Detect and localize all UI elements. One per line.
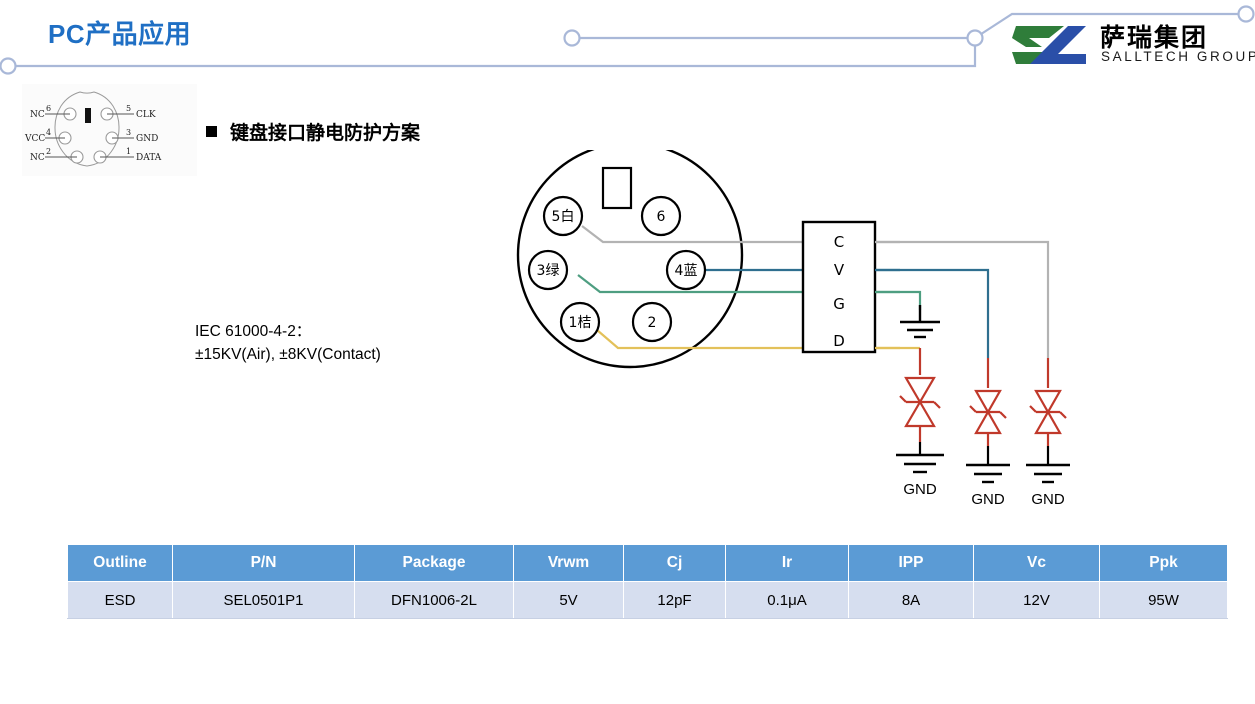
connector-pin-5-label: 5白 xyxy=(552,209,575,225)
ground-label-2: GND xyxy=(971,491,1005,508)
wire-g-to-ground xyxy=(875,292,920,310)
ground-symbol-g xyxy=(900,305,940,337)
table-row: ESD SEL0501P1 DFN1006-2L 5V 12pF 0.1μA 8… xyxy=(68,582,1228,619)
ps2-label-left-2-name: NC xyxy=(30,153,45,163)
cell-vc: 12V xyxy=(974,582,1100,619)
connector-pin-3-label: 3绿 xyxy=(537,263,560,279)
cell-ir: 0.1μA xyxy=(726,582,849,619)
salltech-logo-mark xyxy=(1008,22,1092,68)
connector-pin-1-label: 1桔 xyxy=(569,315,592,331)
col-header-vc: Vc xyxy=(974,545,1100,582)
page-title: PC产品应用 xyxy=(48,14,191,51)
connector-pin-4-label: 4蓝 xyxy=(675,263,698,279)
cell-outline: ESD xyxy=(68,582,173,619)
connector-key-slot xyxy=(603,168,631,208)
company-logo: 萨瑞集团 SALLTECH GROUP xyxy=(1008,18,1248,76)
col-header-package: Package xyxy=(355,545,514,582)
connector-pin-2-label: 2 xyxy=(648,315,657,331)
logo-name-en: SALLTECH GROUP xyxy=(1101,49,1255,64)
col-header-ppk: Ppk xyxy=(1100,545,1228,582)
deco-node-left xyxy=(1,59,16,74)
connector-pin-6-label: 6 xyxy=(657,209,666,225)
ps2-pinout-thumbnail: NC 6 VCC 4 NC 2 5 CLK 3 GND 1 DATA xyxy=(22,84,197,176)
cell-package: DFN1006-2L xyxy=(355,582,514,619)
square-bullet-icon xyxy=(206,126,217,137)
ps2-label-right-0-name: CLK xyxy=(136,110,156,120)
ps2-label-left-2-pin: 2 xyxy=(46,147,51,156)
ps2-label-right-0-pin: 5 xyxy=(126,104,131,113)
ground-label-3: GND xyxy=(1031,491,1065,508)
device-pin-label-c: C xyxy=(834,233,844,251)
col-header-pn: P/N xyxy=(173,545,355,582)
col-header-cj: Cj xyxy=(624,545,726,582)
cell-vrwm: 5V xyxy=(514,582,624,619)
ps2-label-right-1-pin: 3 xyxy=(126,128,131,137)
cell-ppk: 95W xyxy=(1100,582,1228,619)
ps2-label-left-1-name: VCC xyxy=(24,134,45,144)
ps2-label-right-2-pin: 1 xyxy=(126,147,131,156)
section-heading-label: 键盘接口静电防护方案 xyxy=(230,122,420,144)
cell-ipp: 8A xyxy=(849,582,974,619)
section-heading: 键盘接口静电防护方案 xyxy=(206,118,420,145)
deco-node-mid xyxy=(565,31,580,46)
device-pin-label-d: D xyxy=(833,332,845,350)
spec-table: Outline P/N Package Vrwm Cj Ir IPP Vc Pp… xyxy=(67,544,1228,619)
device-pin-label-v: V xyxy=(834,261,845,279)
col-header-ir: Ir xyxy=(726,545,849,582)
iec-note-line1: IEC 61000-4-2： xyxy=(195,320,381,343)
ground-label-1: GND xyxy=(903,481,937,498)
deco-node-junction xyxy=(968,31,983,46)
ps2-label-left-0-name: NC xyxy=(30,110,45,120)
col-header-ipp: IPP xyxy=(849,545,974,582)
wire-c-to-tvs3 xyxy=(875,242,1048,358)
tvs-diode-1: GND xyxy=(896,348,944,498)
table-header-row: Outline P/N Package Vrwm Cj Ir IPP Vc Pp… xyxy=(68,545,1228,582)
ps2-label-right-1-name: GND xyxy=(136,134,158,144)
col-header-vrwm: Vrwm xyxy=(514,545,624,582)
iec-note: IEC 61000-4-2： ±15KV(Air), ±8KV(Contact) xyxy=(195,320,381,366)
ps2-label-left-1-pin: 4 xyxy=(46,128,51,137)
ps2-label-left-0-pin: 6 xyxy=(46,104,51,113)
tvs-diode-3: GND xyxy=(1026,358,1070,508)
col-header-outline: Outline xyxy=(68,545,173,582)
device-pin-label-g: G xyxy=(833,295,845,313)
esd-protection-schematic: 5白 6 3绿 4蓝 1桔 2 C V G D xyxy=(500,150,1140,510)
ps2-label-right-2-name: DATA xyxy=(136,153,162,163)
cell-cj: 12pF xyxy=(624,582,726,619)
cell-pn: SEL0501P1 xyxy=(173,582,355,619)
iec-note-line2: ±15KV(Air), ±8KV(Contact) xyxy=(195,343,381,366)
tvs-diode-2: GND xyxy=(966,358,1010,508)
wire-v-to-tvs2 xyxy=(875,270,988,358)
